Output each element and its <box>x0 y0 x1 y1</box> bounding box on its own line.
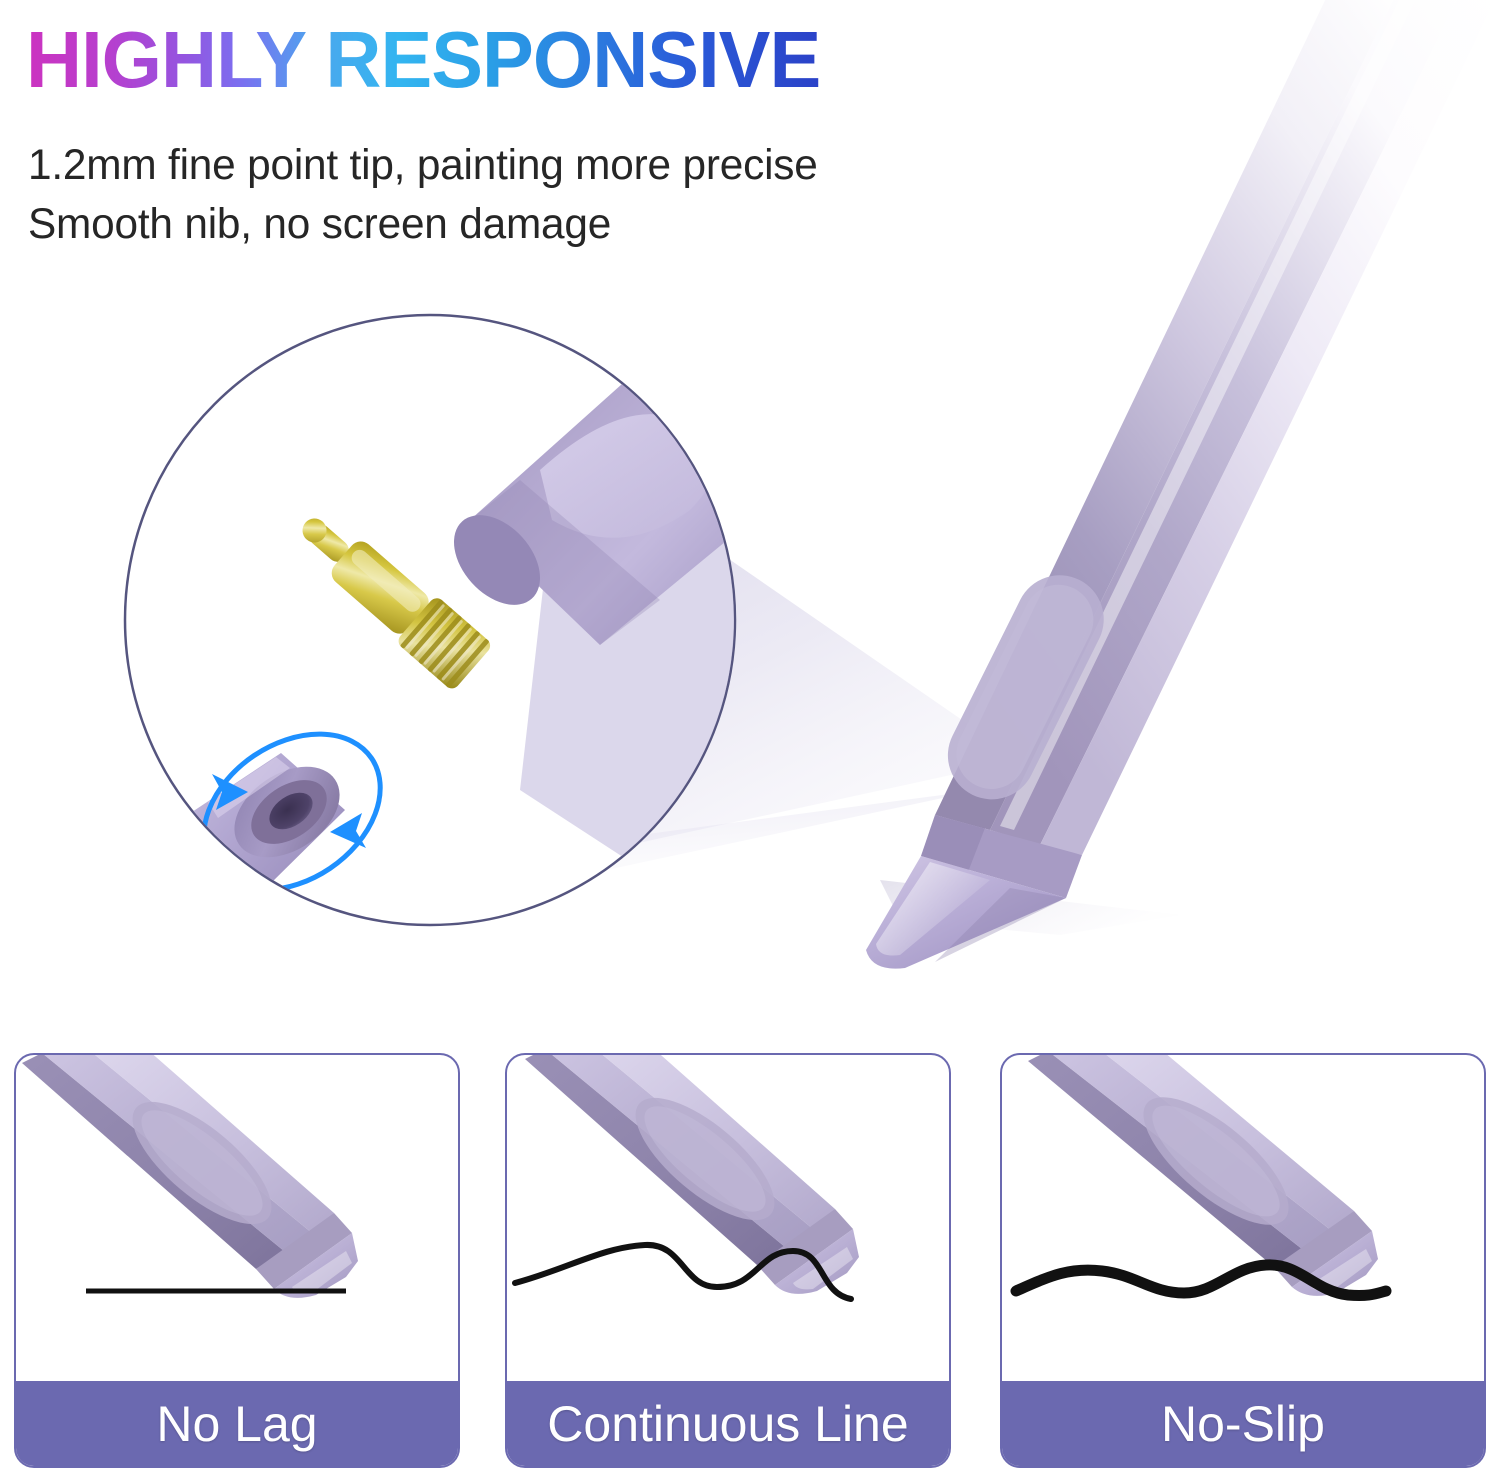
feature-panel-continuous-line[interactable]: Continuous Line <box>505 1053 951 1468</box>
panel-label-no-slip: No-Slip <box>1161 1399 1325 1449</box>
panel-label-continuous-line: Continuous Line <box>547 1399 908 1449</box>
panel-footer-no-slip: No-Slip <box>1002 1381 1484 1466</box>
stylus-drawing-straight-line <box>16 1055 458 1385</box>
feature-panel-no-lag[interactable]: No Lag <box>14 1053 460 1468</box>
panel-footer-continuous-line: Continuous Line <box>507 1381 949 1466</box>
feature-panel-no-slip[interactable]: No-Slip <box>1000 1053 1486 1468</box>
stylus-drawing-wave-line <box>1002 1055 1484 1385</box>
panel-footer-no-lag: No Lag <box>16 1381 458 1466</box>
stylus-drawing-continuous-curve <box>507 1055 949 1385</box>
nib-cap-lower-shade <box>162 860 268 930</box>
panel-label-no-lag: No Lag <box>156 1399 317 1449</box>
hero-illustration <box>0 0 1500 1020</box>
main-stylus <box>866 0 1500 969</box>
product-feature-page: HIGHLY RESPONSIVE 1.2mm fine point tip, … <box>0 0 1500 1475</box>
feature-panel-row: No Lag <box>0 1053 1500 1475</box>
